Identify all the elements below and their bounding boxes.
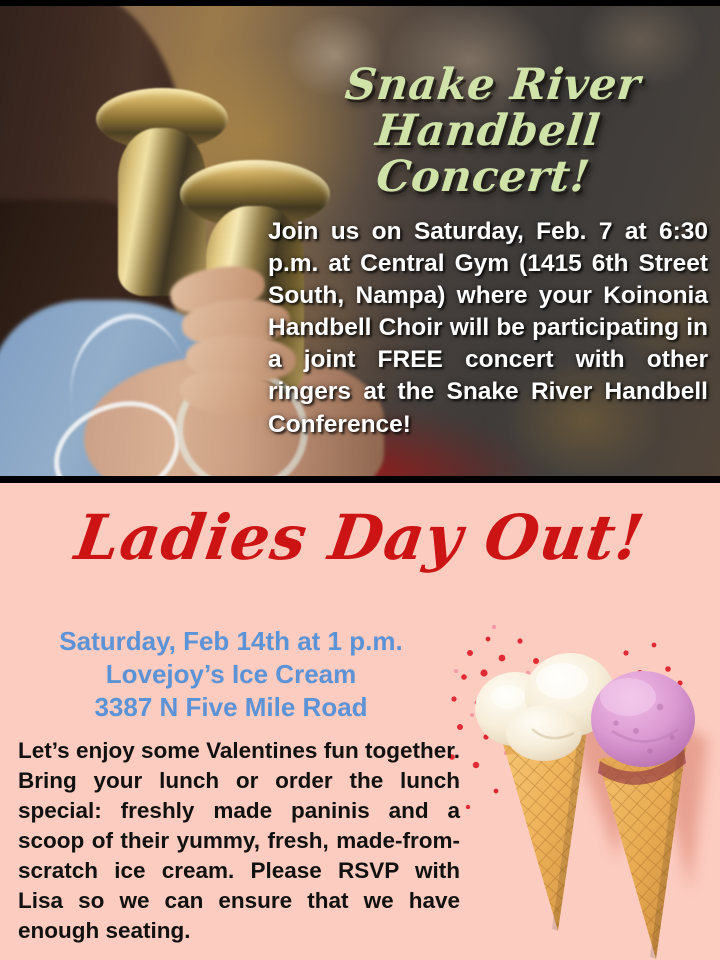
scoop-vanilla-front — [506, 705, 582, 761]
ladies-day-out-title: Ladies Day Out! — [0, 507, 720, 569]
concert-text-block: Snake River Handbell Concert! Join us on… — [268, 62, 708, 441]
ladies-day-out-panel: Ladies Day Out! Saturday, Feb 14th at 1 … — [0, 483, 720, 960]
concert-panel: Snake River Handbell Concert! Join us on… — [0, 0, 720, 483]
ladies-event-details: Saturday, Feb 14th at 1 p.m. Lovejoy’s I… — [6, 625, 456, 723]
concert-title: Snake River Handbell Concert! — [261, 62, 716, 200]
section-divider-black-bar — [0, 476, 720, 483]
flyer-page: Snake River Handbell Concert! Join us on… — [0, 0, 720, 960]
top-black-bar — [0, 0, 720, 6]
ice-cream-cones-photo — [440, 611, 720, 960]
concert-title-line-1: Snake River — [343, 60, 643, 110]
ladies-detail-line: 3387 N Five Mile Road — [6, 691, 456, 724]
ladies-detail-line: Saturday, Feb 14th at 1 p.m. — [6, 625, 456, 658]
ladies-detail-line: Lovejoy’s Ice Cream — [6, 658, 456, 691]
concert-body-text: Join us on Saturday, Feb. 7 at 6:30 p.m.… — [268, 216, 708, 441]
ladies-body-text: Let’s enjoy some Valentines fun together… — [18, 736, 460, 945]
concert-title-line-2: Handbell Concert! — [373, 106, 602, 202]
